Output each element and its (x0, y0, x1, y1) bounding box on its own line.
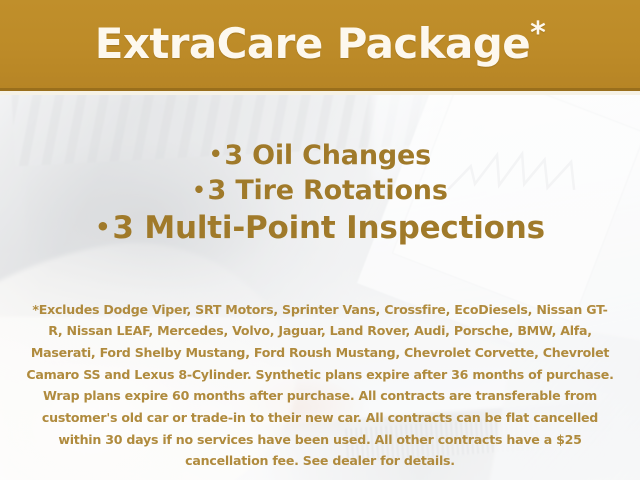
page-title-asterisk: * (530, 16, 545, 51)
page-title-text: ExtraCare Package (95, 19, 530, 68)
benefits-list: •3 Oil Changes •3 Tire Rotations •3 Mult… (0, 138, 640, 248)
list-item-label: 3 Tire Rotations (208, 175, 448, 206)
list-item: •3 Multi-Point Inspections (0, 208, 640, 248)
bullet-icon: • (209, 141, 224, 166)
disclaimer-text: *Excludes Dodge Viper, SRT Motors, Sprin… (26, 299, 614, 472)
list-item: •3 Oil Changes (0, 138, 640, 173)
extracare-package-ad: ExtraCare Package* •3 Oil Changes •3 Tir… (0, 0, 640, 480)
page-title: ExtraCare Package* (95, 23, 546, 65)
banner-bottom-highlight (0, 91, 640, 95)
list-item-label: 3 Multi-Point Inspections (112, 210, 544, 246)
bullet-icon: • (95, 213, 112, 241)
list-item-label: 3 Oil Changes (224, 140, 431, 171)
list-item: •3 Tire Rotations (0, 173, 640, 208)
bullet-icon: • (192, 177, 207, 202)
header-banner: ExtraCare Package* (0, 0, 640, 88)
